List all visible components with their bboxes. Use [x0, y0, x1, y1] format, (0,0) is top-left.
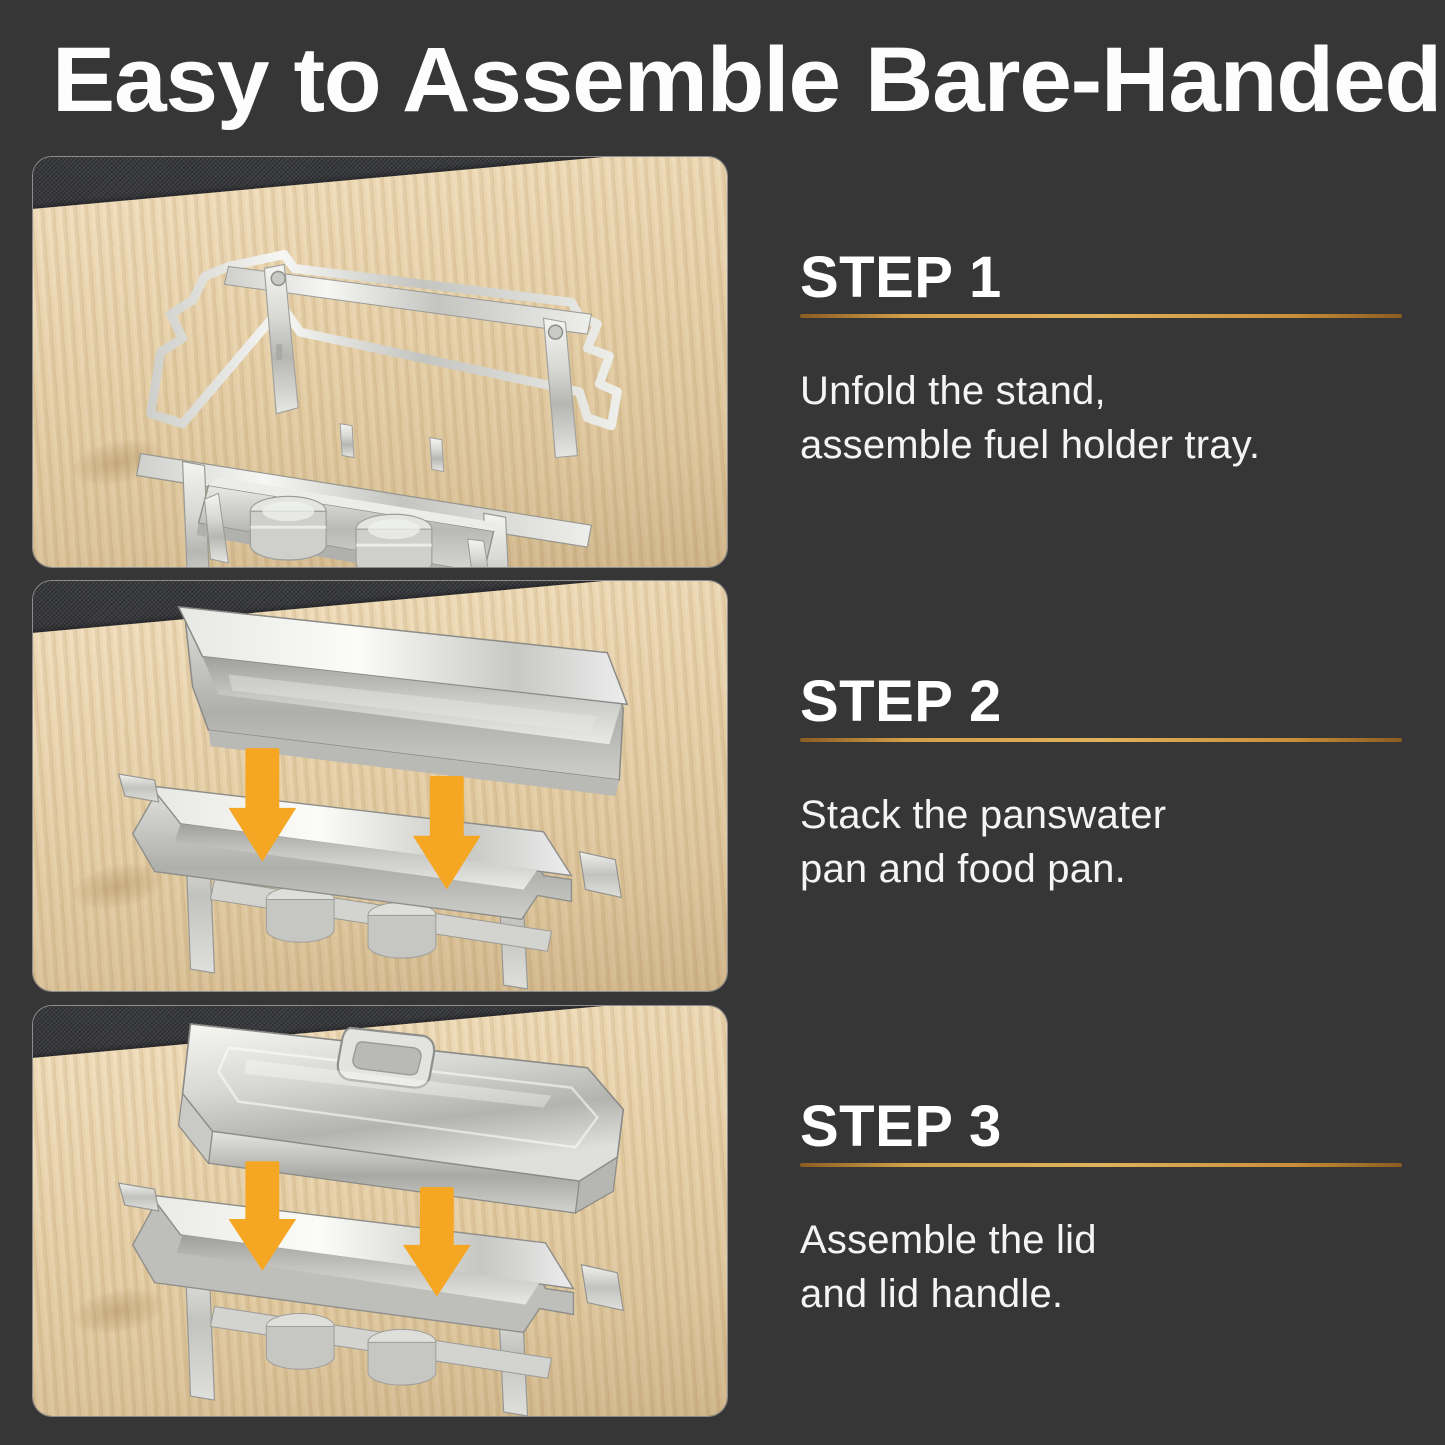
step-1-label: STEP 1: [800, 246, 1408, 310]
step-1-image-card: [32, 156, 728, 568]
scene-step-3: [33, 1006, 727, 1416]
scene-step-2: [33, 581, 727, 991]
step-3-image-card: [32, 1005, 728, 1417]
step-row: STEP 2 Stack the panswater pan and food …: [0, 580, 1445, 998]
step-2-description: Stack the panswater pan and food pan.: [800, 788, 1408, 896]
step-3-text: STEP 3 Assemble the lid and lid handle.: [800, 1005, 1408, 1321]
step-row: STEP 3 Assemble the lid and lid handle.: [0, 1005, 1445, 1423]
step-row: STEP 1 Unfold the stand, assemble fuel h…: [0, 156, 1445, 574]
pan-stacking-illustration: [33, 581, 727, 991]
chafing-stand-illustration: [33, 157, 727, 567]
title-bar: Easy to Assemble Bare-Handed: [0, 0, 1445, 150]
step-3-label: STEP 3: [800, 1095, 1408, 1159]
step-2-text: STEP 2 Stack the panswater pan and food …: [800, 580, 1408, 896]
step-2-image-card: [32, 580, 728, 992]
scene-step-1: [33, 157, 727, 567]
step-2-divider: [800, 738, 1402, 742]
step-1-description: Unfold the stand, assemble fuel holder t…: [800, 364, 1408, 472]
lid-assembly-illustration: [33, 1006, 727, 1416]
page-title: Easy to Assemble Bare-Handed: [52, 30, 1443, 130]
step-3-description: Assemble the lid and lid handle.: [800, 1213, 1408, 1321]
step-1-text: STEP 1 Unfold the stand, assemble fuel h…: [800, 156, 1408, 472]
step-1-divider: [800, 314, 1402, 318]
step-2-label: STEP 2: [800, 670, 1408, 734]
steps-region: STEP 1 Unfold the stand, assemble fuel h…: [0, 150, 1445, 1445]
step-3-divider: [800, 1163, 1402, 1167]
